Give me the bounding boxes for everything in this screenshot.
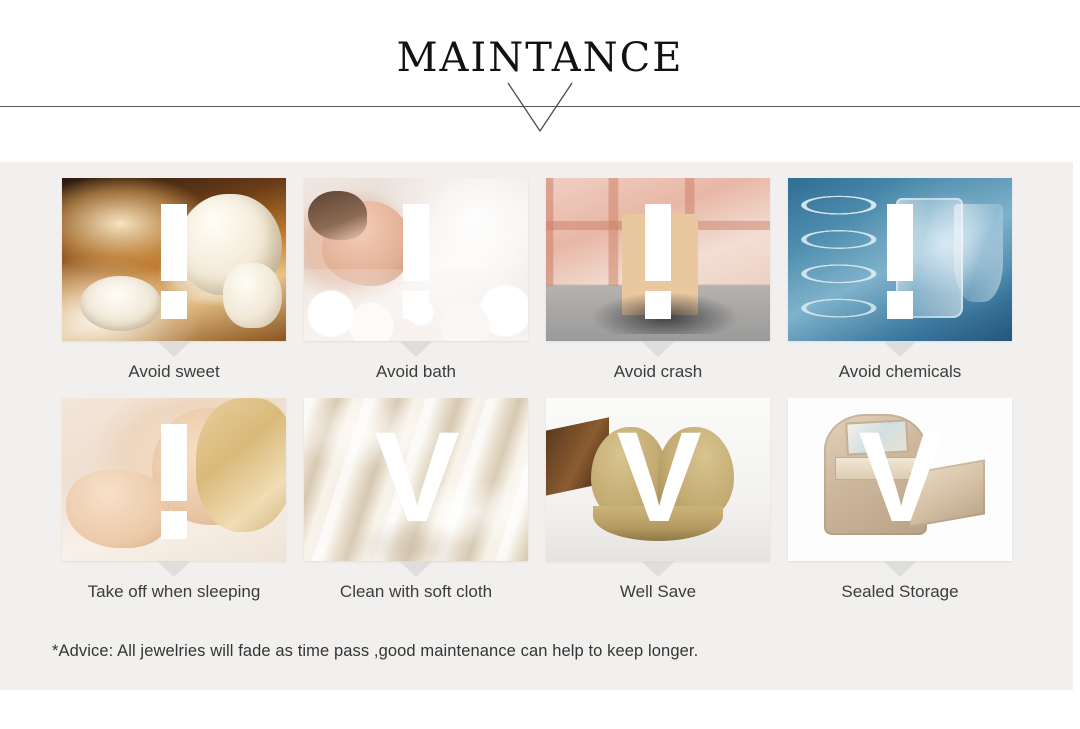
bubble-pointer (641, 561, 675, 577)
tip-caption: Take off when sleeping (62, 581, 286, 603)
content-panel: Avoid sweet (0, 162, 1073, 690)
creamer-jug-shape (223, 263, 281, 328)
tip-caption: Avoid sweet (62, 361, 286, 383)
bubble-pointer (399, 341, 433, 357)
tip-thumbnail[interactable] (546, 178, 770, 341)
silk-fabric-art (304, 398, 528, 561)
tea-cup-shape (91, 282, 147, 310)
tip-thumbnail[interactable]: V (304, 398, 528, 561)
tip-thumbnail[interactable] (62, 178, 286, 341)
tea-pastry-art (62, 178, 286, 341)
jewelry-box-art (788, 398, 1012, 561)
tip-caption: Sealed Storage (788, 581, 1012, 603)
tip-card[interactable]: Avoid bath (304, 178, 528, 383)
tip-card[interactable]: V Well Save (546, 398, 770, 603)
maintenance-infographic: MAINTANCE (0, 0, 1080, 729)
clean-soft-cloth-image (304, 398, 528, 561)
bubble-pointer (157, 341, 191, 357)
sealed-storage-image (788, 398, 1012, 561)
tips-row-1: Avoid sweet (62, 178, 1012, 383)
arm-shape (66, 470, 169, 548)
avoid-crash-image (546, 178, 770, 341)
ring-box-base (593, 506, 723, 542)
glass-coil-shape (792, 188, 908, 331)
bubble-pointer (157, 561, 191, 577)
header: MAINTANCE (0, 0, 1080, 162)
bubble-bath-art (304, 178, 528, 341)
box-mirror (845, 419, 909, 456)
tip-thumbnail[interactable] (62, 398, 286, 561)
page-title: MAINTANCE (0, 34, 1080, 82)
bubble-pointer (883, 341, 917, 357)
bubble-pointer (641, 341, 675, 357)
tips-grid: Avoid sweet (62, 178, 1012, 603)
tips-row-2: Take off when sleeping V Clean with soft… (62, 398, 1012, 603)
tip-card[interactable]: V Sealed Storage (788, 398, 1012, 603)
tip-caption: Avoid crash (546, 361, 770, 383)
tip-card[interactable]: Avoid crash (546, 178, 770, 383)
tip-caption: Avoid bath (304, 361, 528, 383)
sleeping-woman-art (62, 398, 286, 561)
tip-caption: Avoid chemicals (788, 361, 1012, 383)
tip-caption: Well Save (546, 581, 770, 603)
take-off-sleeping-image (62, 398, 286, 561)
bubble-pointer (399, 561, 433, 577)
tip-card[interactable]: Take off when sleeping (62, 398, 286, 603)
lab-glassware-art (788, 178, 1012, 341)
tip-thumbnail[interactable]: V (546, 398, 770, 561)
hair-shape (196, 398, 286, 532)
ground-shadow (591, 292, 739, 334)
bubble-pointer (883, 561, 917, 577)
tip-thumbnail[interactable]: V (788, 398, 1012, 561)
avoid-bath-image (304, 178, 528, 341)
avoid-sweet-image (62, 178, 286, 341)
tip-card[interactable]: Avoid sweet (62, 178, 286, 383)
box-tray (835, 457, 922, 480)
foam-shape (304, 269, 528, 341)
tip-card[interactable]: Avoid chemicals (788, 178, 1012, 383)
tip-card[interactable]: V Clean with soft cloth (304, 398, 528, 603)
tip-thumbnail[interactable] (304, 178, 528, 341)
advice-note: *Advice: All jewelries will fade as time… (52, 640, 698, 662)
tip-thumbnail[interactable] (788, 178, 1012, 341)
tip-caption: Clean with soft cloth (304, 581, 528, 603)
chevron-down-icon (505, 82, 575, 134)
well-save-image (546, 398, 770, 561)
avoid-chemicals-image (788, 178, 1012, 341)
pavement-scene-art (546, 178, 770, 341)
ring-box-art (546, 398, 770, 561)
